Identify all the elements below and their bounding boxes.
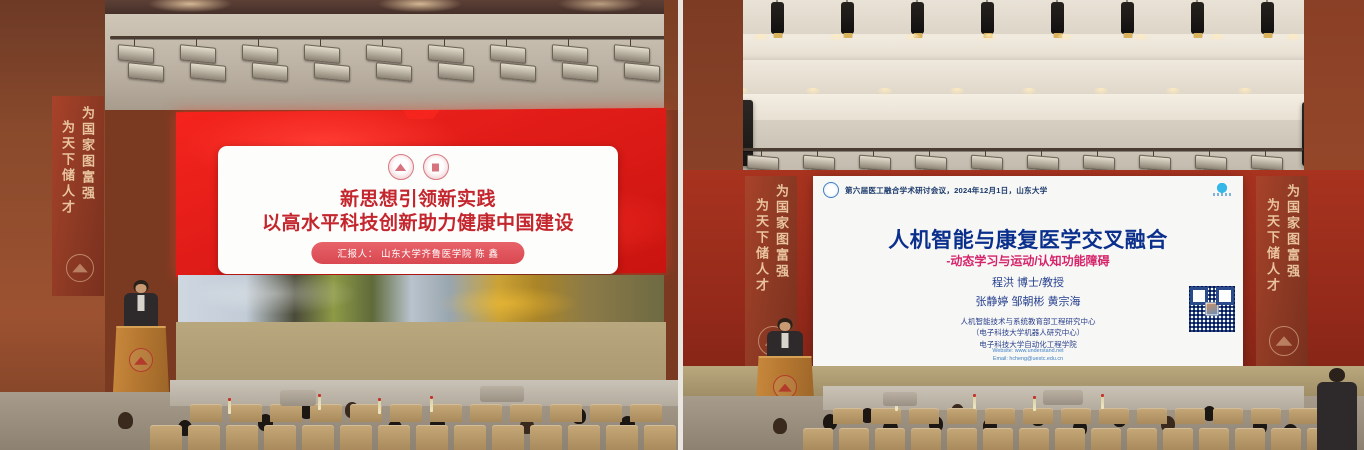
slide-card-left: 新思想引领新实践 以高水平科技创新助力健康中国建设 汇报人： 山东大学齐鲁医学院… [218,146,618,274]
lamp-yoke [873,148,874,156]
lamp-yoke [444,36,445,46]
left-room: 新思想引领新实践 以高水平科技创新助力健康中国建设 汇报人： 山东大学齐鲁医学院… [0,0,678,450]
water-bottle [430,398,433,412]
moving-head-light [981,2,994,34]
slide-subtitle: -动态学习与运动/认知功能障碍 [813,252,1243,269]
right-lighting-truss [743,148,1303,151]
lamp-yoke [568,36,569,46]
audience-seat [1091,428,1121,450]
moving-head-light [1121,2,1134,34]
qr-center-portrait [1206,303,1219,316]
audience-seat [985,408,1015,424]
lamp-yoke [506,36,507,46]
audience-seat [454,425,486,450]
audience-seat [470,404,502,422]
stage-banner-left: 为国家图富强 为天下储人才 [52,96,104,296]
banner-line2: 为天下储人才 [58,120,77,216]
qilu-medical-seal-icon [423,154,449,180]
water-bottle [378,400,381,414]
audience-seat [1099,408,1129,424]
audience-seat [1127,428,1157,450]
slide-authors-co: 张静婷 邹朝彬 黄宗海 [813,293,1243,309]
downlight [905,34,921,41]
audience-seat [983,428,1013,450]
speaker-face [136,284,147,293]
right-room: 第六届医工融合学术研讨会议，2024年12月1日，山东大学 人机智能与康复医学交… [683,0,1364,450]
banner-line1: 为国家图富强 [1283,184,1302,280]
audience-seat [340,425,372,450]
downlight [877,88,893,95]
podium-left [113,326,169,392]
moving-head-light [771,2,784,34]
left-lighting-truss [110,36,670,39]
lamp-yoke [134,36,135,46]
audience-seat [1213,408,1243,424]
lamp-yoke [1041,148,1042,156]
water-bottle [318,396,321,410]
audience-seat [430,404,462,422]
audience-seat [947,408,977,424]
downlight [1021,88,1037,95]
contact-email: Email: hcheng@uestc.edu.cn [813,356,1243,364]
lamp-yoke [630,36,631,46]
moving-head-light [1051,2,1064,34]
lamp-yoke [1209,148,1210,156]
audience-seat [510,404,542,422]
qr-code-icon [1189,286,1235,332]
moving-head-light [841,2,854,34]
screenshot-root: 新思想引领新实践 以高水平科技创新助力健康中国建设 汇报人： 山东大学齐鲁医学院… [0,0,1364,450]
stage-chair [1043,390,1083,405]
audience-seat [190,404,222,422]
audience-seat [226,425,258,450]
speaker-face [780,322,791,331]
presenter-banner: 汇报人： 山东大学齐鲁医学院 陈 鑫 [311,242,524,264]
audience-seat [1023,408,1053,424]
podium-seal-icon [129,348,153,372]
speaker-shirt [138,295,145,311]
audience-seat [1175,408,1205,424]
slide-author-main: 程洪 博士/教授 [813,274,1243,290]
sdu-blue-seal-icon [823,182,839,198]
audience-seat [1137,408,1167,424]
lamp-yoke [196,36,197,46]
water-bottle [973,396,976,409]
attendee-head [118,412,133,429]
lamp-yoke [382,36,383,46]
right-ceiling-4 [683,94,1364,120]
contact-website: Website: www.understand.net [813,348,1243,356]
sdu-seal-icon [388,154,414,180]
banner-line1: 为国家图富强 [78,106,97,202]
audience-seat [875,428,905,450]
moving-head-light [911,2,924,34]
downlight [1133,34,1149,41]
standing-attendee-body [1317,382,1357,450]
audience-seat [530,425,562,450]
audience-seat [416,425,448,450]
affiliation-line-2: （电子科技大学机器人研究中心） [813,327,1243,338]
photo-panel-right: 第六届医工融合学术研讨会议，2024年12月1日，山东大学 人机智能与康复医学交… [683,0,1364,450]
audience-seat [1061,408,1091,424]
audience-seat [1199,428,1229,450]
audience-seat [150,425,182,450]
slide-header-text: 第六届医工融合学术研讨会议，2024年12月1日，山东大学 [845,185,1047,196]
audience-seat [644,425,676,450]
downlight [753,34,769,41]
audience-seat [803,428,833,450]
audience-seat [590,404,622,422]
audience-seat [264,425,296,450]
audience-seat [270,404,302,422]
slide-emblems [218,154,618,180]
audience-seat [302,425,334,450]
panel-divider [678,0,683,450]
stage-chair [280,390,316,406]
downlight [1237,88,1253,95]
affiliation-line-1: 人机智能技术与系统教育部工程研究中心 [813,316,1243,327]
banner-line2: 为天下储人才 [752,198,771,294]
audience-seat [1163,428,1193,450]
slide-title-line1: 新思想引领新实践 [218,184,618,211]
audience-seat [833,408,863,424]
audience-seat [909,408,939,424]
audience-seat [310,404,342,422]
audience-seat [606,425,638,450]
slide-campus-photo [178,275,664,322]
audience-seat [550,404,582,422]
lamp-yoke [985,148,986,156]
slide-contact: Website: www.understand.net Email: hchen… [813,348,1243,364]
moving-head-light [1261,2,1274,34]
audience-seat [492,425,524,450]
water-bottle [228,400,231,414]
sponsor-logo-icon [1211,183,1233,197]
audience-seat [1251,408,1281,424]
lamp-yoke [1153,148,1154,156]
banner-seal-icon [1269,326,1299,356]
audience-seat [230,404,262,422]
audience-seat [568,425,600,450]
attendee-head [773,418,787,434]
lamp-yoke [761,148,762,156]
audience-seat [390,404,422,422]
banner-line1: 为国家图富强 [772,184,791,280]
slide-header: 第六届医工融合学术研讨会议，2024年12月1日，山东大学 [823,182,1233,198]
downlight [949,88,965,95]
right-ceiling-2 [683,34,1364,60]
slide-title-line2: 以高水平科技创新助力健康中国建设 [218,208,618,235]
stage-chair [883,392,917,406]
projection-screen-right: 第六届医工融合学术研讨会议，2024年12月1日，山东大学 人机智能与康复医学交… [813,176,1243,366]
water-bottle [1033,398,1036,411]
left-hall-backwall [170,380,678,406]
audience-seat [1271,428,1301,450]
audience-seat [1055,428,1085,450]
downlight [1093,88,1109,95]
audience-seat [188,425,220,450]
audience-seat [1019,428,1049,450]
downlight [829,34,845,41]
downlight [1209,34,1225,41]
standing-attendee-head [1329,368,1345,382]
lamp-yoke [817,148,818,156]
lamp-yoke [320,36,321,46]
slide-affiliation: 人机智能技术与系统教育部工程研究中心 （电子科技大学机器人研究中心） 电子科技大… [813,316,1243,350]
led-wall-notch [399,110,443,119]
lamp-yoke [1097,148,1098,156]
downlight [805,88,821,95]
stage-banner-right: 为国家图富强 为天下储人才 [1256,176,1308,366]
audience-seat [378,425,410,450]
water-bottle [1101,396,1104,409]
downlight [1285,34,1301,41]
audience-seat [1235,428,1265,450]
banner-seal-icon [66,254,94,282]
audience-seat [947,428,977,450]
moving-head-light [1191,2,1204,34]
lamp-yoke [929,148,930,156]
standing-attendee [1314,368,1360,450]
audience-seat [911,428,941,450]
audience-seat [630,404,662,422]
banner-line2: 为天下储人才 [1263,198,1282,294]
stage-chair [480,386,524,402]
photo-panel-left: 新思想引领新实践 以高水平科技创新助力健康中国建设 汇报人： 山东大学齐鲁医学院… [0,0,678,450]
audience-seat [839,428,869,450]
downlight [1057,34,1073,41]
downlight [981,34,997,41]
lamp-yoke [1265,148,1266,156]
downlight [1165,88,1181,95]
slide-title: 人机智能与康复医学交叉融合 [813,224,1243,254]
lamp-yoke [258,36,259,46]
speaker-shirt [782,333,789,348]
